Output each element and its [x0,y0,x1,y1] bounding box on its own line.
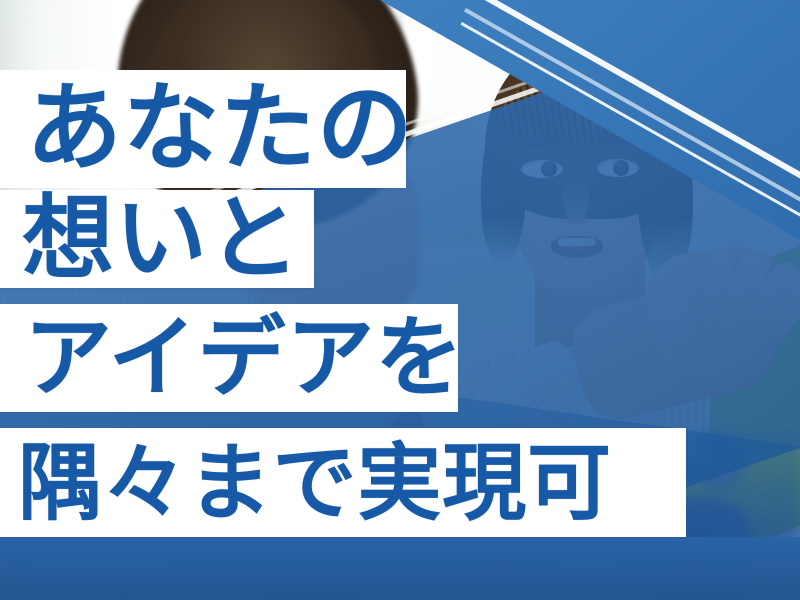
headline-band-2: 想いと [0,190,314,288]
banner-image: あなたの 想いと アイデアを 隅々まで実現可 [0,0,800,600]
bottom-blue-band [0,537,800,600]
headline-line-3: アイデアを [0,314,464,402]
headline-band-3: アイデアを [0,304,458,412]
headline-line-2: 想いと [0,193,301,285]
headline-line-4: 隅々まで実現可 [0,441,612,525]
headline-line-1: あなたの [0,81,414,177]
headline-band-1: あなたの [0,70,406,188]
headline-band-4: 隅々まで実現可 [0,428,686,537]
